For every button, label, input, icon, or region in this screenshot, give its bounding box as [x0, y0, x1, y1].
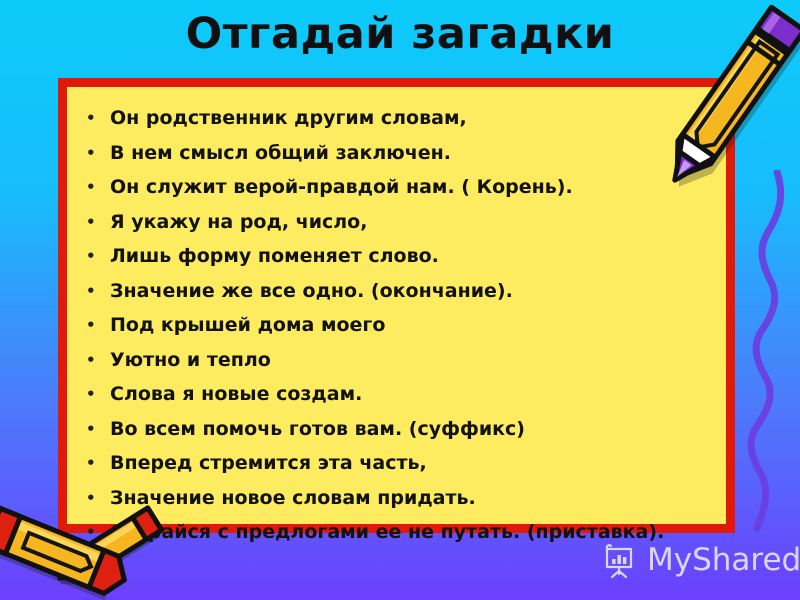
riddle-text: В нем смысл общий заключен.: [110, 142, 451, 164]
pencil-icon: [648, 0, 800, 204]
bullet-icon: •: [86, 308, 96, 343]
riddle-text: Вперед стремится эта часть,: [110, 452, 427, 474]
list-item: • Он служит верой-правдой нам. ( Корень)…: [67, 170, 726, 205]
riddle-text: Уютно и тепло: [110, 349, 271, 371]
bullet-icon: •: [86, 101, 96, 136]
bullet-icon: •: [86, 205, 96, 240]
riddle-text: Я укажу на род, число,: [110, 211, 367, 233]
riddle-text: Под крышей дома моего: [110, 314, 385, 336]
riddle-text: Он родственник другим словам,: [110, 107, 467, 129]
bullet-icon: •: [86, 377, 96, 412]
list-item: • Значение же все одно. (окончание).: [67, 274, 726, 309]
watermark: MyShared: [600, 537, 800, 583]
riddle-text: Лишь форму поменяет слово.: [110, 245, 439, 267]
list-item: • Вперед стремится эта часть,: [67, 446, 726, 481]
watermark-label: MyShared: [647, 542, 800, 578]
riddle-text: Значение же все одно. (окончание).: [110, 280, 513, 302]
list-item: • Я укажу на род, число,: [67, 205, 726, 240]
list-item: • Под крышей дома моего: [67, 308, 726, 343]
bullet-icon: •: [86, 446, 96, 481]
list-item: • Во всем помочь готов вам. (суффикс): [67, 412, 726, 447]
bullet-icon: •: [86, 136, 96, 171]
slide-canvas: Отгадай загадки • Он родственник другим …: [0, 0, 800, 600]
list-item: • Лишь форму поменяет слово.: [67, 239, 726, 274]
crossed-pencils-icon: [0, 505, 182, 600]
bullet-icon: •: [86, 412, 96, 447]
bullet-icon: •: [86, 274, 96, 309]
list-item: • Уютно и тепло: [67, 343, 726, 378]
riddle-list: • Он родственник другим словам, • В нем …: [67, 87, 726, 550]
bullet-icon: •: [86, 170, 96, 205]
list-item: • Слова я новые создам.: [67, 377, 726, 412]
riddle-text: Слова я новые создам.: [110, 383, 362, 405]
list-item: • Он родственник другим словам,: [67, 101, 726, 136]
bullet-icon: •: [86, 239, 96, 274]
bullet-icon: •: [86, 343, 96, 378]
squiggle-line-icon: [735, 170, 800, 535]
riddle-text: Старайся с предлогами ее не путать. (при…: [110, 521, 664, 543]
riddle-panel: • Он родственник другим словам, • В нем …: [58, 78, 735, 533]
riddle-text: Во всем помочь готов вам. (суффикс): [110, 418, 525, 440]
riddle-text: Он служит верой-правдой нам. ( Корень).: [110, 176, 573, 198]
presentation-board-icon: [600, 541, 638, 579]
list-item: • В нем смысл общий заключен.: [67, 136, 726, 171]
